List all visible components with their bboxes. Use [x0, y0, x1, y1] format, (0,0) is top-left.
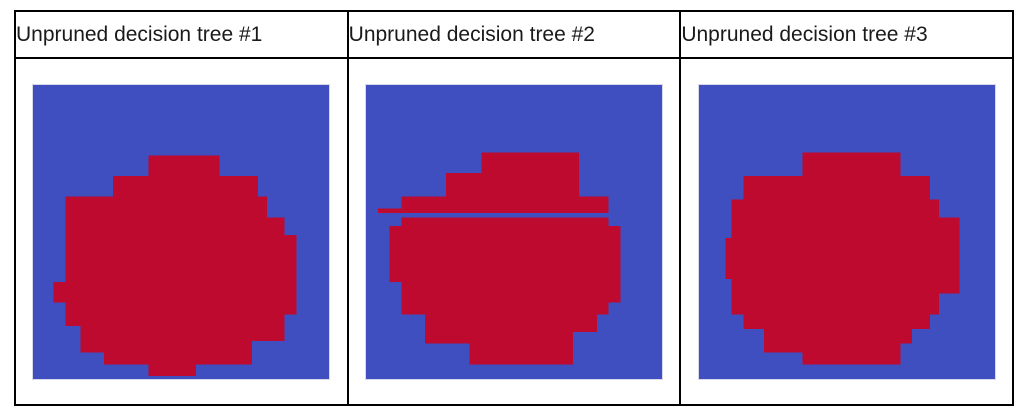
decision-region [149, 155, 220, 176]
decision-region [731, 217, 959, 238]
decision-boundary-plot-1 [32, 84, 330, 380]
decision-region [149, 364, 196, 376]
decision-region [731, 293, 938, 314]
decision-region [113, 176, 258, 197]
decision-region [731, 279, 959, 294]
table-plot-row [15, 58, 1013, 405]
decision-region [104, 352, 252, 364]
decision-region-layer [33, 85, 329, 379]
decision-tree-comparison-table: Unpruned decision tree #1 Unpruned decis… [14, 10, 1014, 406]
decision-region [66, 217, 285, 235]
decision-region [731, 199, 938, 217]
panel-title-3: Unpruned decision tree #3 [680, 11, 1013, 58]
decision-region [66, 196, 267, 217]
decision-region [481, 152, 579, 173]
plot-cell-2 [348, 58, 681, 405]
decision-region [402, 217, 609, 226]
decision-region [66, 314, 285, 326]
decision-region [743, 176, 929, 200]
decision-region-layer [699, 85, 995, 379]
panel-title-2: Unpruned decision tree #2 [348, 11, 681, 58]
decision-region [470, 343, 574, 364]
decision-region [764, 329, 912, 344]
decision-region [802, 352, 900, 364]
decision-boundary-plot-2 [365, 84, 663, 380]
decision-region [81, 340, 253, 352]
decision-region [66, 302, 297, 314]
decision-region [725, 237, 959, 278]
panel-title-1: Unpruned decision tree #1 [15, 11, 348, 58]
decision-region [743, 314, 929, 329]
decision-region-layer [366, 85, 662, 379]
decision-region [402, 302, 609, 314]
decision-region [425, 331, 573, 343]
decision-region [390, 226, 621, 250]
table-header-row: Unpruned decision tree #1 Unpruned decis… [15, 11, 1013, 58]
decision-region [66, 234, 297, 281]
plot-cell-3 [680, 58, 1013, 405]
decision-region [446, 173, 579, 197]
decision-region [764, 343, 900, 352]
decision-region [425, 314, 597, 332]
decision-region [802, 152, 900, 176]
decision-region [378, 208, 609, 212]
plot-cell-1 [15, 58, 348, 405]
decision-boundary-plot-3 [698, 84, 996, 380]
decision-region [54, 281, 297, 302]
decision-region [402, 281, 621, 302]
decision-region [402, 196, 609, 208]
decision-region [81, 326, 285, 341]
decision-region [390, 249, 621, 281]
